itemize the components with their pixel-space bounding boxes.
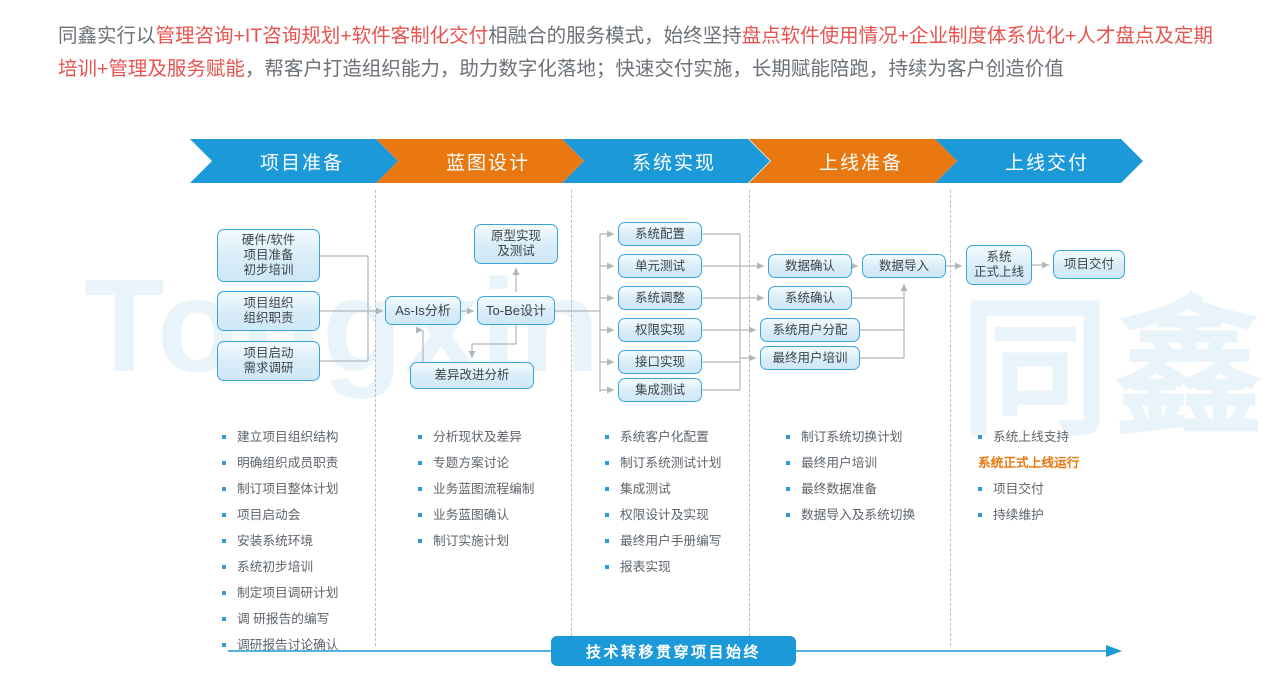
flow-box-label: 项目启动 需求调研: [243, 346, 293, 376]
phase-label: 上线准备: [819, 148, 903, 175]
flow-box-data-confirm[interactable]: 数据确认: [768, 254, 852, 278]
flow-box-gap-analysis[interactable]: 差异改进分析: [410, 362, 534, 389]
flow-box-label: 差异改进分析: [434, 368, 509, 383]
task-item-label: 业务蓝图确认: [433, 508, 509, 523]
bullet-icon: [978, 435, 982, 439]
task-item-label: 制订项目整体计划: [237, 482, 339, 497]
flow-box-label: 单元测试: [635, 259, 685, 274]
bullet-icon: [418, 435, 422, 439]
flow-box-label: 项目组织 组织职责: [243, 296, 293, 326]
task-item-label: 制订系统切换计划: [801, 430, 903, 445]
flow-box-label: 原型实现 及测试: [491, 229, 541, 259]
bullet-icon: [222, 487, 226, 491]
task-item-label: 制订系统测试计划: [620, 456, 722, 471]
task-item: 明确组织成员职责: [222, 456, 339, 471]
task-item: 安装系统环境: [222, 534, 339, 549]
phase-chevron-2[interactable]: 蓝图设计: [376, 139, 584, 183]
bullet-icon: [978, 513, 982, 517]
task-item-label: 项目交付: [993, 482, 1044, 497]
intro-segment-4: ，帮客户打造组织能力，助力数字化落地；快速交付实施，长期赋能陪跑，持续为客户创造…: [245, 58, 1064, 80]
intro-segment-2: 相融合的服务模式，始终坚持: [488, 25, 742, 47]
task-item-label: 安装系统环境: [237, 534, 313, 549]
flow-box-integration-test[interactable]: 集成测试: [618, 378, 702, 402]
bullet-icon: [786, 435, 790, 439]
bullet-icon: [605, 461, 609, 465]
task-item-label: 持续维护: [993, 508, 1044, 523]
flow-box-data-import[interactable]: 数据导入: [862, 254, 946, 278]
task-item: 集成测试: [605, 482, 722, 497]
flow-box-label: To-Be设计: [486, 303, 546, 318]
task-item: 系统初步培训: [222, 560, 339, 575]
phase-chevron-1[interactable]: 项目准备: [190, 139, 398, 183]
flow-box-label: 硬件/软件 项目准备 初步培训: [242, 233, 295, 278]
bullet-icon: [978, 487, 982, 491]
task-item-label: 最终用户手册编写: [620, 534, 722, 549]
flow-box-label: 系统用户分配: [772, 323, 847, 338]
task-item-label: 分析现状及差异: [433, 430, 522, 445]
bullet-icon: [786, 513, 790, 517]
phase-label: 系统实现: [632, 148, 716, 175]
bullet-icon: [418, 487, 422, 491]
flow-box-system-golive[interactable]: 系统 正式上线: [966, 245, 1032, 285]
task-list-column-3: 系统客户化配置制订系统测试计划集成测试权限设计及实现最终用户手册编写报表实现: [605, 430, 722, 586]
task-item-label: 最终用户培训: [801, 456, 877, 471]
bullet-icon: [418, 461, 422, 465]
task-item: 最终用户培训: [786, 456, 915, 471]
flow-box-project-org[interactable]: 项目组织 组织职责: [217, 291, 320, 331]
slide-canvas: Tongxin 同鑫 同鑫实行以管理咨询+IT咨询规划+软件客制化交付相融合的服…: [0, 0, 1278, 684]
flow-box-label: 系统 正式上线: [974, 250, 1024, 280]
task-item-label: 系统客户化配置: [620, 430, 709, 445]
task-item: 制订项目整体计划: [222, 482, 339, 497]
task-item: 项目交付: [978, 482, 1080, 497]
flow-box-interface-impl[interactable]: 接口实现: [618, 350, 702, 374]
bullet-icon: [222, 435, 226, 439]
task-item: 调 研报告的编写: [222, 612, 339, 627]
phase-label: 项目准备: [260, 148, 344, 175]
bullet-icon: [222, 565, 226, 569]
task-item: 分析现状及差异: [418, 430, 535, 445]
bullet-icon: [418, 513, 422, 517]
bullet-icon: [605, 487, 609, 491]
task-item: 报表实现: [605, 560, 722, 575]
flow-box-label: 项目交付: [1064, 257, 1114, 272]
bottom-banner-label: 技术转移贯穿项目始终: [586, 641, 761, 662]
flow-box-label: 数据确认: [785, 259, 835, 274]
task-item-label: 集成测试: [620, 482, 671, 497]
bullet-icon: [222, 591, 226, 595]
task-item: 系统上线支持: [978, 430, 1080, 445]
task-item: 专题方案讨论: [418, 456, 535, 471]
flow-box-system-confirm[interactable]: 系统确认: [768, 286, 852, 310]
bullet-icon: [222, 513, 226, 517]
flow-box-label: 接口实现: [635, 355, 685, 370]
phase-banner: 项目准备蓝图设计系统实现上线准备上线交付: [190, 139, 1143, 183]
bullet-icon: [786, 487, 790, 491]
bullet-icon: [605, 539, 609, 543]
task-item-label: 建立项目组织结构: [237, 430, 339, 445]
task-item: 持续维护: [978, 508, 1080, 523]
bottom-banner-pill: 技术转移贯穿项目始终: [551, 636, 796, 666]
task-item: 业务蓝图确认: [418, 508, 535, 523]
task-item: 制订实施计划: [418, 534, 535, 549]
bullet-icon: [605, 513, 609, 517]
phase-chevron-5[interactable]: 上线交付: [935, 139, 1143, 183]
flow-box-label: 最终用户培训: [772, 351, 847, 366]
flow-box-unit-test[interactable]: 单元测试: [618, 254, 702, 278]
task-item: 项目启动会: [222, 508, 339, 523]
task-item-label: 明确组织成员职责: [237, 456, 339, 471]
task-item-label: 专题方案讨论: [433, 456, 509, 471]
flow-box-project-kickoff[interactable]: 项目启动 需求调研: [217, 341, 320, 381]
flow-box-label: 数据导入: [879, 259, 929, 274]
intro-segment-1: 管理咨询+IT咨询规划+软件客制化交付: [156, 25, 489, 47]
task-list-column-1: 建立项目组织结构明确组织成员职责制订项目整体计划项目启动会安装系统环境系统初步培…: [222, 430, 339, 664]
task-item: 最终用户手册编写: [605, 534, 722, 549]
task-item: 制定项目调研计划: [222, 586, 339, 601]
task-item-label: 调 研报告的编写: [237, 612, 329, 627]
flow-box-label: 权限实现: [635, 323, 685, 338]
flow-box-as-is-analysis[interactable]: As-Is分析: [385, 296, 461, 325]
task-list-column-2: 分析现状及差异专题方案讨论业务蓝图流程编制业务蓝图确认制订实施计划: [418, 430, 535, 560]
flow-box-label: 系统配置: [635, 227, 685, 242]
flow-box-prototype-test[interactable]: 原型实现 及测试: [474, 224, 558, 264]
task-item-label: 业务蓝图流程编制: [433, 482, 535, 497]
flow-box-permission-impl[interactable]: 权限实现: [618, 318, 702, 342]
task-item-label: 制定项目调研计划: [237, 586, 339, 601]
task-item-label: 项目启动会: [237, 508, 300, 523]
bottom-banner: 技术转移贯穿项目始终: [0, 636, 1278, 676]
bullet-icon: [222, 461, 226, 465]
task-item: 最终数据准备: [786, 482, 915, 497]
task-item-label: 报表实现: [620, 560, 671, 575]
bullet-icon: [605, 565, 609, 569]
bullet-icon: [222, 617, 226, 621]
task-item: 系统客户化配置: [605, 430, 722, 445]
flow-box-project-delivery[interactable]: 项目交付: [1053, 250, 1125, 279]
flow-box-label: 集成测试: [635, 383, 685, 398]
flow-box-system-config[interactable]: 系统配置: [618, 222, 702, 246]
task-item: 业务蓝图流程编制: [418, 482, 535, 497]
flow-box-hardware-software-prep[interactable]: 硬件/软件 项目准备 初步培训: [217, 229, 320, 282]
flow-box-to-be-design[interactable]: To-Be设计: [477, 296, 555, 325]
task-list-column-4: 制订系统切换计划最终用户培训最终数据准备数据导入及系统切换: [786, 430, 915, 534]
flow-box-system-adjust[interactable]: 系统调整: [618, 286, 702, 310]
phase-label: 上线交付: [1005, 148, 1089, 175]
flow-box-final-user-training[interactable]: 最终用户培训: [760, 346, 860, 370]
intro-paragraph: 同鑫实行以管理咨询+IT咨询规划+软件客制化交付相融合的服务模式，始终坚持盘点软…: [58, 20, 1228, 86]
task-item: 制订系统切换计划: [786, 430, 915, 445]
flow-box-label: As-Is分析: [395, 303, 451, 318]
task-item: 权限设计及实现: [605, 508, 722, 523]
intro-segment-0: 同鑫实行以: [58, 25, 156, 47]
bullet-icon: [786, 461, 790, 465]
task-item-label: 最终数据准备: [801, 482, 877, 497]
task-item-emphasis: 系统正式上线运行: [978, 456, 1080, 471]
task-item: 建立项目组织结构: [222, 430, 339, 445]
task-item-label: 系统正式上线运行: [978, 456, 1080, 471]
phase-chevron-4[interactable]: 上线准备: [749, 139, 957, 183]
task-item-label: 制订实施计划: [433, 534, 509, 549]
task-list-column-5: 系统上线支持系统正式上线运行项目交付持续维护: [978, 430, 1080, 534]
task-item-label: 系统初步培训: [237, 560, 313, 575]
phase-label: 蓝图设计: [446, 148, 530, 175]
flow-box-label: 系统调整: [635, 291, 685, 306]
bullet-icon: [222, 539, 226, 543]
task-item-label: 系统上线支持: [993, 430, 1069, 445]
task-item-label: 权限设计及实现: [620, 508, 709, 523]
phase-chevron-3[interactable]: 系统实现: [562, 139, 770, 183]
task-item-label: 数据导入及系统切换: [801, 508, 915, 523]
bullet-icon: [418, 539, 422, 543]
flow-box-label: 系统确认: [785, 291, 835, 306]
task-item: 制订系统测试计划: [605, 456, 722, 471]
flow-box-system-user-assign[interactable]: 系统用户分配: [760, 318, 860, 342]
task-item: 数据导入及系统切换: [786, 508, 915, 523]
bullet-icon: [605, 435, 609, 439]
